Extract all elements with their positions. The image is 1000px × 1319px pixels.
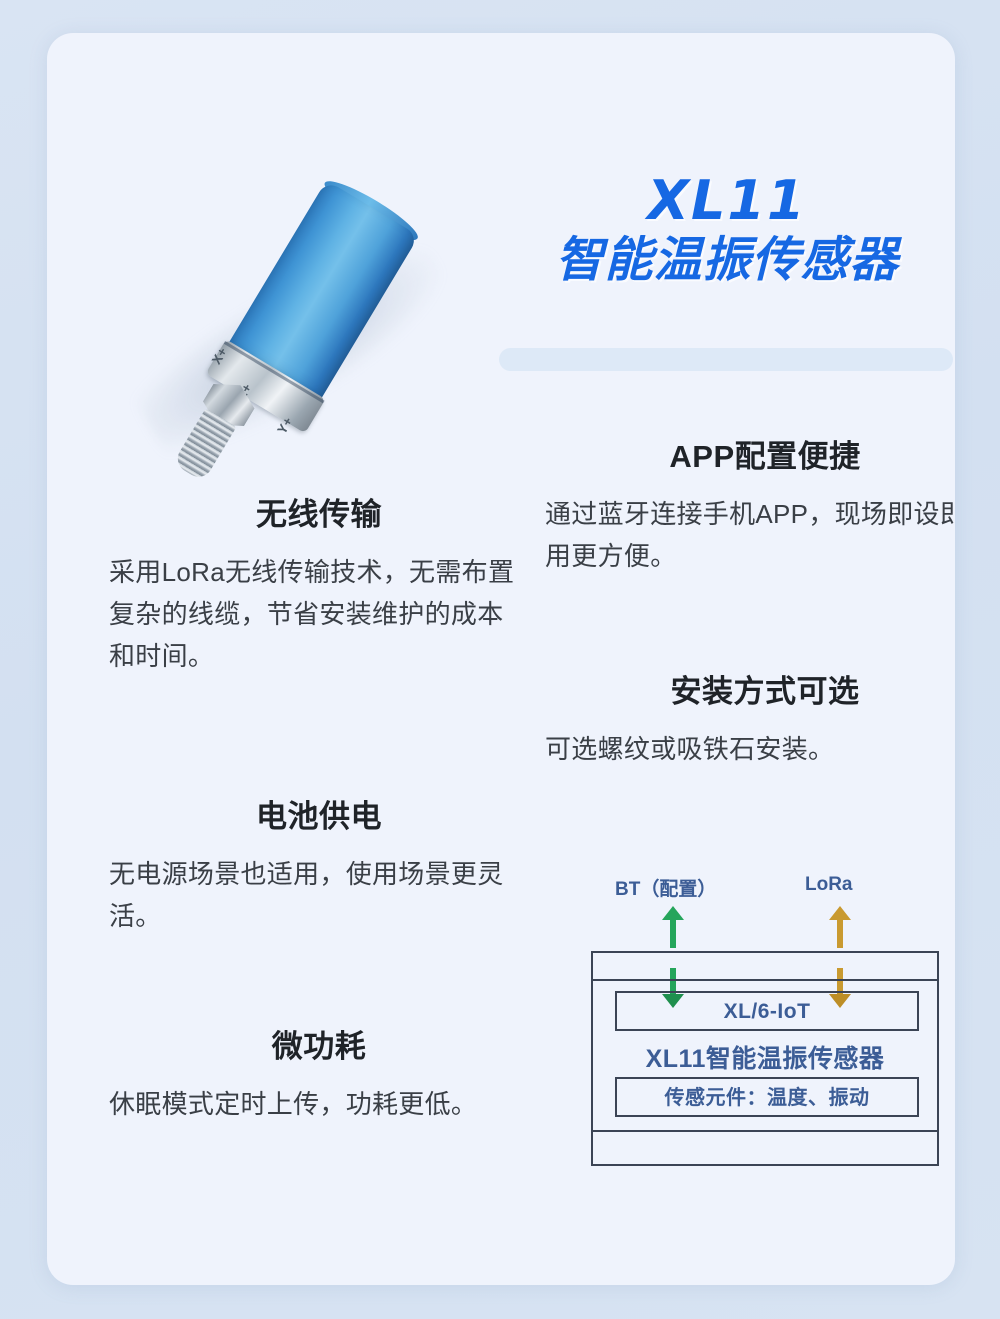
feature-heading: 安装方式可选 [545, 673, 955, 710]
feature-battery-power: 电池供电 无电源场景也适用，使用场景更灵活。 [109, 798, 529, 937]
diagram-label-bluetooth: BT（配置） [615, 874, 716, 901]
feature-body: 采用LoRa无线传输技术，无需布置复杂的线缆，节省安装维护的成本和时间。 [109, 551, 529, 677]
feature-app-configuration: APP配置便捷 通过蓝牙连接手机APP，现场即设即用更方便。 [545, 438, 955, 577]
feature-body: 通过蓝牙连接手机APP，现场即设即用更方便。 [545, 493, 955, 577]
diagram-top-band [593, 953, 937, 981]
title-divider [499, 348, 953, 371]
diagram-label-lora: LoRa [805, 874, 853, 896]
poster-page: X+ Z+ Y+ XL11 智能温振传感器 无线传输 采用LoRa无线传输技术，… [0, 0, 1000, 1319]
feature-heading: 电池供电 [109, 798, 529, 835]
arrow-up-shaft [670, 918, 676, 948]
feature-heading: 无线传输 [109, 496, 529, 533]
feature-body: 休眠模式定时上传，功耗更低。 [109, 1083, 529, 1125]
diagram-bottom-band [593, 1130, 937, 1164]
architecture-diagram: BT（配置） LoRa XL/6-IoT XL11智能温振传感器 传感元件：温度… [577, 866, 955, 1166]
diagram-box-iot-module: XL/6-IoT [615, 991, 919, 1031]
feature-low-power: 微功耗 休眠模式定时上传，功耗更低。 [109, 1028, 529, 1125]
product-title-block: XL11 智能温振传感器 [497, 173, 955, 287]
photo-stage: X+ Z+ Y+ [102, 95, 492, 415]
feature-heading: 微功耗 [109, 1028, 529, 1065]
page-title: XL11 [497, 173, 955, 230]
feature-wireless-transmission: 无线传输 采用LoRa无线传输技术，无需布置复杂的线缆，节省安装维护的成本和时间… [109, 496, 529, 678]
product-photo: X+ Z+ Y+ [102, 95, 492, 415]
diagram-device-name: XL11智能温振传感器 [593, 1039, 937, 1075]
feature-heading: APP配置便捷 [545, 438, 955, 475]
diagram-outer-enclosure: XL/6-IoT XL11智能温振传感器 传感元件：温度、振动 [591, 951, 939, 1166]
product-card: X+ Z+ Y+ XL11 智能温振传感器 无线传输 采用LoRa无线传输技术，… [47, 33, 955, 1285]
page-subtitle: 智能温振传感器 [497, 234, 955, 288]
feature-body: 可选螺纹或吸铁石安装。 [545, 728, 955, 770]
diagram-box-sensing-elements: 传感元件：温度、振动 [615, 1077, 919, 1117]
feature-body: 无电源场景也适用，使用场景更灵活。 [109, 853, 529, 937]
feature-mounting-options: 安装方式可选 可选螺纹或吸铁石安装。 [545, 673, 955, 770]
arrow-up-shaft [837, 918, 843, 948]
